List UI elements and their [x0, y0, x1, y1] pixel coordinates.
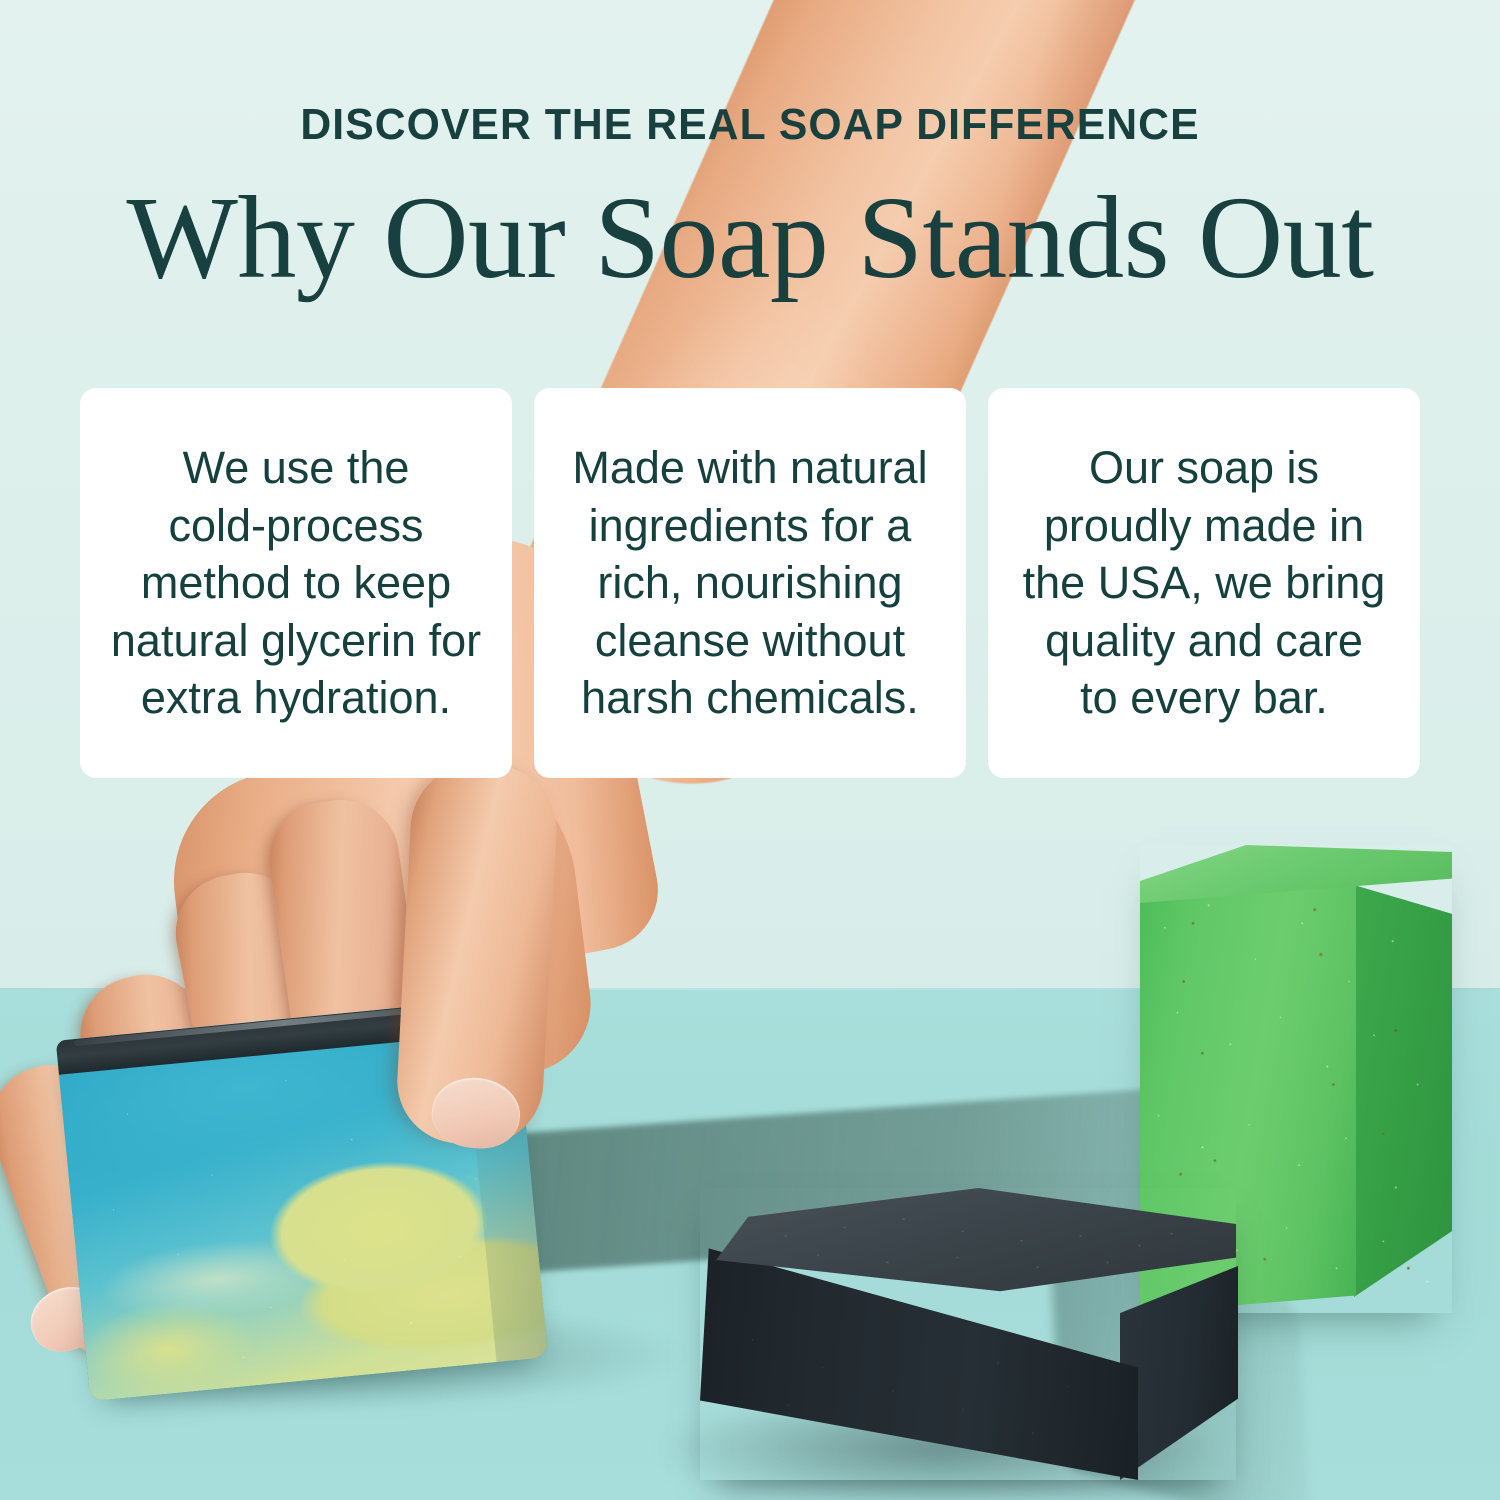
- benefit-card-3-text: Our soap is proudly made in the USA, we …: [1023, 439, 1386, 727]
- soap-marketing-banner: DISCOVER THE REAL SOAP DIFFERENCE Why Ou…: [0, 0, 1500, 1500]
- benefit-card-3[interactable]: Our soap is proudly made in the USA, we …: [988, 388, 1420, 778]
- benefit-card-1-text: We use the cold-process method to keep n…: [111, 439, 481, 727]
- benefit-card-1[interactable]: We use the cold-process method to keep n…: [80, 388, 512, 778]
- benefit-card-row: We use the cold-process method to keep n…: [80, 388, 1420, 778]
- page-title: Why Our Soap Stands Out: [0, 175, 1500, 300]
- benefit-card-2-text: Made with natural ingredients for a rich…: [572, 439, 927, 727]
- benefit-card-2[interactable]: Made with natural ingredients for a rich…: [534, 388, 966, 778]
- eyebrow-kicker: DISCOVER THE REAL SOAP DIFFERENCE: [23, 100, 1478, 150]
- charcoal-soap-bar: [700, 1188, 1236, 1480]
